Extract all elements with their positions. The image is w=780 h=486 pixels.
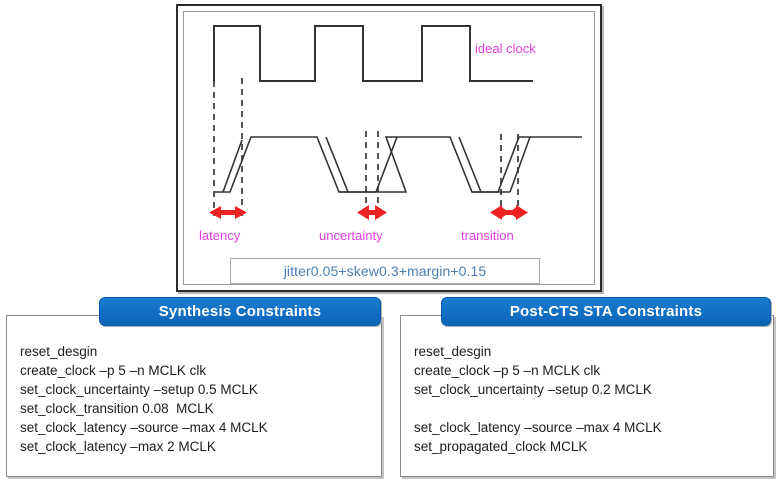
constraint-line: reset_desgin	[20, 342, 373, 361]
measurement-arrows	[209, 205, 528, 220]
clock-waveform-graphic	[178, 6, 604, 294]
latency-label: latency	[199, 228, 240, 243]
constraint-line: create_clock –p 5 –n MCLK clk	[20, 361, 373, 380]
dashed-reference-lines	[214, 78, 518, 216]
post-cts-sta-constraints-panel: Post-CTS STA Constraints reset_desgin cr…	[400, 315, 774, 477]
constraint-line: reset_desgin	[414, 342, 765, 361]
constraint-line: set_clock_latency –max 2 MCLK	[20, 437, 373, 456]
transition-label: transition	[461, 228, 514, 243]
post-cts-sta-constraints-tab[interactable]: Post-CTS STA Constraints	[441, 297, 771, 326]
edge-pair-5	[510, 137, 530, 192]
edge-pair-3	[376, 137, 397, 192]
constraint-line: set_clock_uncertainty –setup 0.5 MCLK	[20, 380, 373, 399]
constraint-line: create_clock –p 5 –n MCLK clk	[414, 361, 765, 380]
constraint-line: set_clock_latency –source –max 4 MCLK	[414, 418, 765, 437]
synthesis-constraints-tab[interactable]: Synthesis Constraints	[99, 297, 381, 326]
constraint-line: set_propagated_clock MCLK	[414, 437, 765, 456]
ideal-clock-label: ideal clock	[475, 41, 536, 56]
uncertainty-label: uncertainty	[319, 228, 383, 243]
jitter-formula-box: jitter0.05+skew0.3+margin+0.15	[230, 258, 540, 284]
synthesis-constraints-body: reset_desgin create_clock –p 5 –n MCLK c…	[20, 342, 373, 456]
edge-pair-4	[459, 137, 481, 192]
jitter-formula-text: jitter0.05+skew0.3+margin+0.15	[284, 263, 487, 279]
post-cts-sta-constraints-body: reset_desgin create_clock –p 5 –n MCLK c…	[414, 342, 765, 456]
clock-diagram-frame: ideal clock latency uncertainty transiti…	[176, 4, 602, 292]
constraint-line: set_clock_transition 0.08 MCLK	[20, 399, 373, 418]
constraint-line-blank	[414, 399, 765, 418]
constraint-line: set_clock_latency –source –max 4 MCLK	[20, 418, 373, 437]
edge-pair-2	[326, 137, 348, 192]
transition-arrow	[490, 205, 528, 220]
synthesis-constraints-panel: Synthesis Constraints reset_desgin creat…	[6, 315, 382, 477]
skewed-clock-waveform	[214, 137, 582, 192]
constraint-line: set_clock_uncertainty –setup 0.2 MCLK	[414, 380, 765, 399]
uncertainty-arrow	[357, 205, 387, 220]
